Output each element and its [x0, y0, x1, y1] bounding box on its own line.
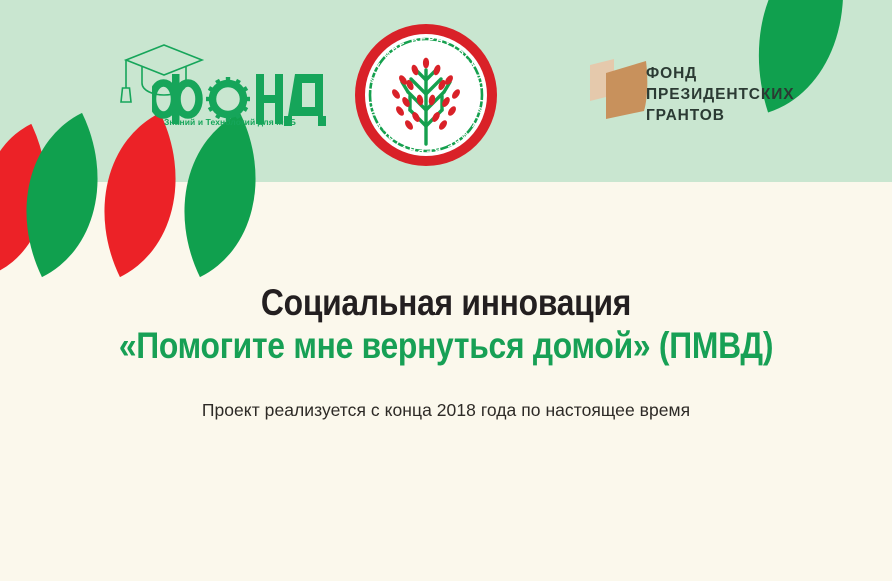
subtitle-text: Проект реализуется с конца 2018 года по … — [0, 400, 892, 421]
logo-presidential-grants: ФОНД ПРЕЗИДЕНТСКИХ ГРАНТОВ — [588, 55, 828, 135]
page-title-line2: «Помогите мне вернуться домой» (ПМВД) — [62, 325, 829, 366]
fond-subtitle: Знаний и Технологий для МСБ — [164, 117, 324, 127]
logo-fond-znaniy: Знаний и Технологий для МСБ — [118, 42, 323, 132]
title-block: Социальная инновация «Помогите мне верну… — [0, 282, 892, 367]
tree-emblem-icon: ПОМОГИТЕ МНЕ ВЕРНУТЬСЯ ДОМОЙ • ПОМОГИТЕ … — [353, 22, 499, 168]
presidential-grants-text: ФОНД ПРЕЗИДЕНТСКИХ ГРАНТОВ — [646, 64, 795, 127]
presidential-grants-mark-icon — [588, 55, 650, 121]
slide-canvas: Знаний и Технологий для МСБ ПОМОГИТЕ МНЕ… — [0, 0, 892, 581]
background-band-bottom — [0, 182, 892, 581]
logo-row: Знаний и Технологий для МСБ ПОМОГИТЕ МНЕ… — [0, 0, 892, 182]
page-title-line1: Социальная инновация — [62, 282, 829, 323]
